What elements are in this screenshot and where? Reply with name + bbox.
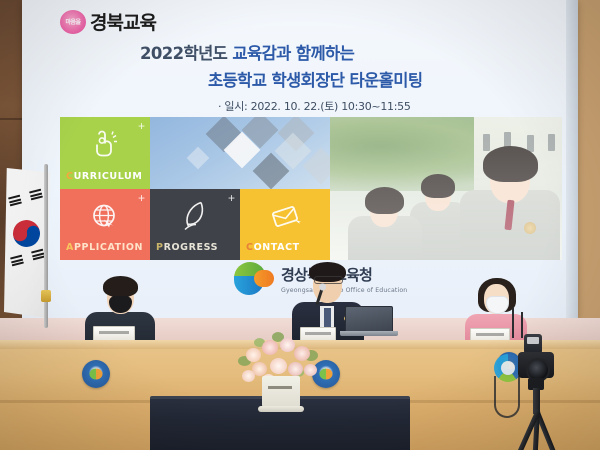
slide-title-main1: 교육감과 함께하는: [232, 44, 354, 63]
vase-foot: [258, 406, 304, 412]
flower-vase: [262, 376, 300, 410]
taeguk-symbol-icon: [11, 218, 42, 249]
slide-title-line1: 2022학년도 교육감과 함께하는: [140, 40, 570, 64]
korean-flag: [4, 168, 52, 328]
hand-touch-icon: [90, 131, 120, 164]
office-logo-mark-icon: [234, 262, 274, 296]
plus-icon: +: [138, 192, 145, 204]
tile-label-application: APPLICATION: [66, 242, 143, 253]
tile-lead-letter: A: [66, 242, 74, 253]
antenna-icon: [512, 308, 514, 338]
tile-label-curriculum: CURRICULUM: [66, 171, 142, 182]
nameplate-left: [93, 326, 135, 341]
tile-lead-letter: C: [246, 242, 254, 253]
plus-icon: +: [228, 192, 235, 204]
tile-contact: CONTACT: [240, 189, 330, 261]
tile-application: + APPLICATION: [60, 189, 150, 261]
laptop-screen: [345, 306, 393, 334]
wall-seam: [0, 118, 22, 120]
camera-flash-icon: [524, 334, 542, 354]
flag-pole: [44, 164, 48, 328]
tile-label-contact: CONTACT: [246, 242, 300, 253]
slide-title-block: 2022학년도 교육감과 함께하는 초등학교 학생회장단 타운홀미팅 · 일시:…: [140, 40, 570, 114]
camera-strap: [494, 376, 520, 418]
brand-badge-text: 마음을: [65, 17, 80, 26]
slide-tile-grid: + CURRICULUM: [60, 117, 330, 260]
plus-icon: +: [138, 120, 145, 132]
desk-emblem-left: [82, 360, 110, 388]
photo-overlay: [330, 117, 562, 260]
tile-label-rest-curriculum: URRICULUM: [74, 171, 143, 182]
slide-title-year: 2022학년도: [140, 44, 227, 63]
tile-lead-letter: P: [156, 242, 164, 253]
slide-date-line: · 일시: 2022. 10. 22.(토) 10:30~11:55: [140, 98, 570, 114]
laptop-base: [340, 331, 398, 336]
tile-sky-decoration: [150, 117, 330, 189]
brand-badge-icon: 마음을: [60, 10, 86, 34]
camera-tripod: [488, 336, 592, 450]
tile-label-rest-progress: ROGRESS: [164, 242, 218, 253]
trigram-icon: [8, 195, 22, 207]
globe-icon: [91, 202, 119, 235]
vase-band: [268, 386, 292, 389]
slide-title-line2: 초등학교 학생회장단 타운홀미팅: [140, 67, 570, 91]
conference-scene: 마음을 경북교육 2022학년도 교육감과 함께하는 초등학교 학생회장단 타운…: [0, 0, 600, 450]
screen-right-edge: [566, 0, 578, 318]
brand-name: 경북교육: [90, 8, 156, 35]
tile-label-rest-application: PPLICATION: [74, 242, 143, 253]
tile-label-rest-contact: ONTACT: [254, 242, 300, 253]
students-photo: [330, 117, 562, 260]
tile-progress: + PROGRESS: [150, 189, 240, 261]
trigram-icon: [31, 249, 45, 261]
flower-arrangement: [232, 330, 328, 408]
flag-finial: [41, 290, 51, 302]
tile-label-progress: PROGRESS: [156, 242, 218, 253]
envelope-icon: [269, 202, 301, 235]
tile-curriculum: + CURRICULUM: [60, 117, 150, 189]
brand-logo: 마음을 경북교육: [60, 8, 156, 35]
antenna-icon: [521, 312, 523, 338]
trigram-icon: [29, 189, 43, 201]
tile-lead-letter: C: [66, 171, 74, 182]
trigram-icon: [10, 255, 24, 267]
feather-icon: [181, 200, 209, 237]
